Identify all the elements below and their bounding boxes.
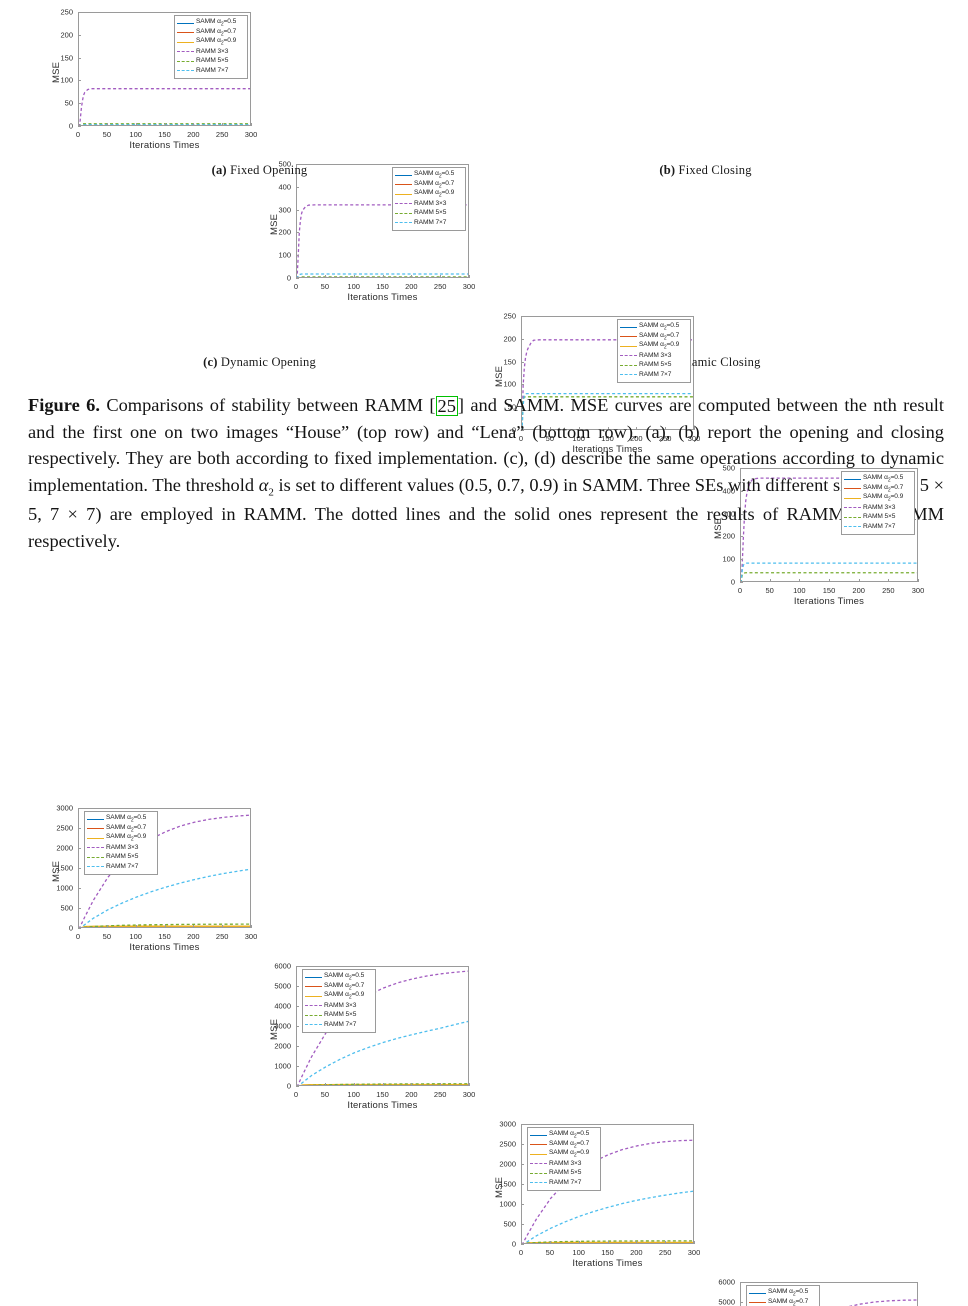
citation-link[interactable]: 25: [436, 396, 458, 416]
legend-item[interactable]: SAMM α2=0.9: [844, 493, 911, 503]
legend-swatch: [87, 815, 104, 823]
legend-swatch: [177, 66, 194, 74]
x-tick-mark: [325, 275, 326, 278]
legend-item[interactable]: SAMM α2=0.7: [620, 332, 687, 342]
x-tick-label: 0: [76, 130, 80, 139]
y-tick-label: 3000: [262, 1022, 291, 1031]
legend-item[interactable]: RAMM 3×3: [87, 843, 154, 853]
legend-label: SAMM α2=0.7: [324, 982, 364, 991]
y-tick-label: 0: [706, 578, 735, 587]
y-tick-mark: [521, 384, 524, 385]
x-tick-label: 0: [294, 282, 298, 291]
panel-d-left: MSE0500100015002000250030000501001502002…: [487, 1116, 700, 1274]
y-tick-mark: [78, 35, 81, 36]
legend-label: SAMM α2=0.9: [863, 493, 903, 502]
caption-label: Figure 6.: [28, 395, 100, 415]
y-tick-label: 5000: [706, 1298, 735, 1306]
legend-item[interactable]: SAMM α2=0.7: [844, 484, 911, 494]
chart-legend[interactable]: SAMM α2=0.5SAMM α2=0.7SAMM α2=0.9RAMM 3×…: [746, 1285, 820, 1306]
x-tick-mark: [296, 275, 297, 278]
legend-label: SAMM α2=0.5: [196, 18, 236, 27]
legend-swatch: [177, 57, 194, 65]
legend-item[interactable]: RAMM 7×7: [87, 862, 154, 872]
legend-label: SAMM α2=0.9: [196, 37, 236, 46]
legend-swatch: [530, 1140, 547, 1148]
chart-legend[interactable]: SAMM α2=0.5SAMM α2=0.7SAMM α2=0.9RAMM 3×…: [527, 1127, 601, 1191]
y-tick-mark: [296, 255, 299, 256]
legend-label: SAMM α2=0.5: [768, 1288, 808, 1297]
x-tick-mark: [694, 1241, 695, 1244]
y-tick-mark: [521, 1244, 524, 1245]
legend-swatch: [305, 1020, 322, 1028]
x-tick-label: 200: [405, 282, 418, 291]
y-tick-label: 3000: [487, 1120, 516, 1129]
subcaption-b: (b) Fixed Closing: [487, 163, 924, 178]
legend-swatch: [305, 973, 322, 981]
y-tick-label: 1000: [44, 884, 73, 893]
figure-panels: MSE050100150200250050100150200250300Iter…: [0, 0, 968, 382]
x-tick-label: 50: [103, 130, 111, 139]
legend-swatch: [395, 199, 412, 207]
x-tick-label: 300: [463, 1090, 476, 1099]
legend-label: RAMM 5×5: [106, 853, 138, 860]
x-tick-mark: [636, 1241, 637, 1244]
y-tick-mark: [296, 1086, 299, 1087]
legend-label: RAMM 3×3: [549, 1160, 581, 1167]
y-tick-label: 500: [487, 1220, 516, 1229]
legend-label: SAMM α2=0.5: [324, 972, 364, 981]
x-axis-label: Iterations Times: [521, 1258, 694, 1269]
legend-swatch: [177, 47, 194, 55]
x-tick-mark: [550, 1241, 551, 1244]
x-tick-label: 200: [630, 1248, 643, 1257]
x-tick-label: 150: [158, 130, 171, 139]
legend-label: SAMM α2=0.5: [863, 474, 903, 483]
y-tick-label: 1000: [262, 1062, 291, 1071]
x-tick-mark: [521, 1241, 522, 1244]
y-tick-label: 1000: [487, 1200, 516, 1209]
chart-legend[interactable]: SAMM α2=0.5SAMM α2=0.7SAMM α2=0.9RAMM 3×…: [841, 471, 915, 535]
legend-swatch: [177, 38, 194, 46]
x-tick-mark: [440, 1083, 441, 1086]
x-tick-label: 100: [347, 1090, 360, 1099]
x-axis-label: Iterations Times: [78, 942, 251, 953]
y-tick-label: 6000: [262, 962, 291, 971]
legend-label: SAMM α2=0.9: [414, 189, 454, 198]
x-tick-label: 250: [216, 130, 229, 139]
chart-legend[interactable]: SAMM α2=0.5SAMM α2=0.7SAMM α2=0.9RAMM 3×…: [617, 319, 691, 383]
legend-swatch: [620, 351, 637, 359]
legend-item[interactable]: RAMM 7×7: [620, 370, 687, 380]
legend-label: SAMM α2=0.7: [196, 28, 236, 37]
x-tick-label: 250: [882, 586, 895, 595]
x-tick-mark: [888, 579, 889, 582]
x-tick-label: 50: [546, 1248, 554, 1257]
x-tick-mark: [107, 123, 108, 126]
x-tick-mark: [136, 123, 137, 126]
y-tick-label: 50: [44, 99, 73, 108]
legend-swatch: [395, 190, 412, 198]
legend-label: RAMM 7×7: [639, 371, 671, 378]
x-tick-mark: [222, 123, 223, 126]
legend-item[interactable]: SAMM α2=0.9: [620, 341, 687, 351]
y-tick-mark: [296, 1046, 299, 1047]
legend-item[interactable]: SAMM α2=0.5: [395, 170, 462, 180]
legend-item[interactable]: RAMM 5×5: [305, 1010, 372, 1020]
y-tick-mark: [296, 232, 299, 233]
x-tick-mark: [740, 579, 741, 582]
legend-label: SAMM α2=0.7: [768, 1298, 808, 1306]
y-tick-label: 2500: [487, 1140, 516, 1149]
y-tick-label: 200: [44, 30, 73, 39]
legend-swatch: [305, 1011, 322, 1019]
y-tick-label: 0: [262, 274, 291, 283]
y-tick-label: 0: [487, 1240, 516, 1249]
panel-a-left: MSE050100150200250050100150200250300Iter…: [44, 4, 257, 156]
legend-label: SAMM α2=0.5: [414, 170, 454, 179]
legend-label: RAMM 3×3: [639, 352, 671, 359]
legend-item[interactable]: RAMM 7×7: [530, 1178, 597, 1188]
subcaption-a-text: Fixed Opening: [230, 163, 307, 177]
y-tick-mark: [521, 316, 524, 317]
legend-label: SAMM α2=0.7: [549, 1140, 589, 1149]
x-tick-mark: [107, 925, 108, 928]
x-tick-mark: [770, 579, 771, 582]
y-tick-mark: [521, 1164, 524, 1165]
legend-label: SAMM α2=0.5: [549, 1130, 589, 1139]
x-tick-mark: [859, 579, 860, 582]
y-tick-label: 100: [487, 380, 516, 389]
x-tick-mark: [918, 579, 919, 582]
x-axis-label: Iterations Times: [740, 596, 918, 607]
legend-item[interactable]: SAMM α2=0.9: [177, 37, 244, 47]
y-tick-label: 100: [706, 555, 735, 564]
legend-label: RAMM 5×5: [324, 1011, 356, 1018]
legend-swatch: [177, 28, 194, 36]
caption-text-part1: Comparisons of stability between RAMM [: [106, 395, 435, 415]
legend-swatch: [87, 824, 104, 832]
legend-item[interactable]: SAMM α2=0.5: [177, 18, 244, 28]
legend-swatch: [305, 1001, 322, 1009]
x-tick-label: 100: [572, 1248, 585, 1257]
y-tick-mark: [78, 80, 81, 81]
legend-item[interactable]: RAMM 5×5: [620, 360, 687, 370]
y-tick-mark: [296, 187, 299, 188]
legend-item[interactable]: RAMM 5×5: [844, 512, 911, 522]
chart-legend[interactable]: SAMM α2=0.5SAMM α2=0.7SAMM α2=0.9RAMM 3×…: [302, 969, 376, 1033]
legend-item[interactable]: SAMM α2=0.7: [530, 1140, 597, 1150]
x-tick-mark: [136, 925, 137, 928]
series-line-dashed: [522, 1191, 694, 1244]
legend-label: SAMM α2=0.7: [863, 484, 903, 493]
legend-swatch: [177, 19, 194, 27]
legend-item[interactable]: SAMM α2=0.7: [177, 28, 244, 38]
legend-label: RAMM 5×5: [414, 209, 446, 216]
legend-item[interactable]: RAMM 3×3: [620, 351, 687, 361]
legend-label: RAMM 5×5: [549, 1169, 581, 1176]
x-tick-mark: [799, 579, 800, 582]
legend-item[interactable]: SAMM α2=0.7: [305, 982, 372, 992]
x-tick-mark: [251, 123, 252, 126]
subcaption-c: (c) Dynamic Opening: [44, 355, 475, 370]
legend-label: RAMM 5×5: [639, 361, 671, 368]
legend-item[interactable]: RAMM 5×5: [87, 852, 154, 862]
subcaption-a-tag: (a): [212, 163, 227, 177]
x-tick-label: 300: [463, 282, 476, 291]
legend-item[interactable]: SAMM α2=0.5: [844, 474, 911, 484]
legend-item[interactable]: RAMM 7×7: [395, 218, 462, 228]
legend-label: SAMM α2=0.9: [639, 341, 679, 350]
legend-label: RAMM 5×5: [863, 513, 895, 520]
panel-a-right: MSE0100200300400500050100150200250300Ite…: [262, 156, 475, 308]
x-tick-mark: [78, 123, 79, 126]
x-tick-label: 150: [376, 1090, 389, 1099]
y-tick-label: 2500: [44, 824, 73, 833]
x-tick-label: 150: [823, 586, 836, 595]
x-axis-label: Iterations Times: [296, 292, 469, 303]
legend-label: SAMM α2=0.5: [639, 322, 679, 331]
legend-label: RAMM 3×3: [863, 504, 895, 511]
legend-label: SAMM α2=0.5: [106, 814, 146, 823]
legend-swatch: [749, 1298, 766, 1306]
y-tick-mark: [521, 1224, 524, 1225]
x-tick-label: 0: [519, 1248, 523, 1257]
legend-item[interactable]: RAMM 7×7: [177, 66, 244, 76]
legend-item[interactable]: SAMM α2=0.5: [530, 1130, 597, 1140]
x-tick-mark: [469, 1083, 470, 1086]
subcaption-b-text: Fixed Closing: [679, 163, 752, 177]
y-tick-mark: [740, 1302, 743, 1303]
x-tick-label: 50: [765, 586, 773, 595]
legend-swatch: [620, 332, 637, 340]
legend-item[interactable]: RAMM 5×5: [530, 1168, 597, 1178]
legend-label: RAMM 7×7: [414, 219, 446, 226]
x-tick-mark: [165, 925, 166, 928]
x-tick-mark: [665, 1241, 666, 1244]
x-tick-mark: [829, 579, 830, 582]
legend-label: RAMM 7×7: [196, 67, 228, 74]
y-tick-label: 400: [262, 182, 291, 191]
legend-swatch: [620, 370, 637, 378]
panel-c-left: MSE0500100015002000250030000501001502002…: [44, 800, 257, 958]
legend-swatch: [395, 209, 412, 217]
y-tick-label: 200: [262, 228, 291, 237]
y-tick-label: 6000: [706, 1278, 735, 1287]
x-tick-label: 250: [216, 932, 229, 941]
legend-label: RAMM 7×7: [106, 863, 138, 870]
panel-c-right: MSE0100020003000400050006000050100150200…: [262, 958, 475, 1116]
legend-swatch: [87, 862, 104, 870]
y-tick-mark: [521, 1204, 524, 1205]
x-tick-mark: [383, 1083, 384, 1086]
x-tick-label: 50: [321, 282, 329, 291]
y-tick-mark: [521, 1124, 524, 1125]
y-tick-mark: [78, 828, 81, 829]
legend-item[interactable]: SAMM α2=0.9: [87, 833, 154, 843]
y-tick-label: 2000: [262, 1042, 291, 1051]
legend-label: RAMM 7×7: [549, 1179, 581, 1186]
x-tick-label: 0: [738, 586, 742, 595]
y-tick-mark: [78, 12, 81, 13]
y-tick-mark: [296, 1006, 299, 1007]
legend-swatch: [620, 342, 637, 350]
y-tick-mark: [78, 808, 81, 809]
x-tick-mark: [579, 1241, 580, 1244]
legend-label: RAMM 3×3: [196, 48, 228, 55]
x-tick-label: 150: [376, 282, 389, 291]
legend-swatch: [305, 992, 322, 1000]
legend-swatch: [87, 843, 104, 851]
y-tick-mark: [521, 339, 524, 340]
x-tick-label: 0: [76, 932, 80, 941]
x-tick-label: 100: [347, 282, 360, 291]
x-tick-mark: [440, 275, 441, 278]
legend-swatch: [844, 503, 861, 511]
y-tick-mark: [78, 126, 81, 127]
chart-legend[interactable]: SAMM α2=0.5SAMM α2=0.7SAMM α2=0.9RAMM 3×…: [174, 15, 248, 79]
y-tick-mark: [78, 868, 81, 869]
x-tick-label: 150: [158, 932, 171, 941]
chart-legend[interactable]: SAMM α2=0.5SAMM α2=0.7SAMM α2=0.9RAMM 3×…: [392, 167, 466, 231]
legend-item[interactable]: SAMM α2=0.5: [620, 322, 687, 332]
x-tick-label: 250: [434, 1090, 447, 1099]
legend-item[interactable]: RAMM 5×5: [395, 208, 462, 218]
legend-swatch: [87, 853, 104, 861]
y-tick-mark: [740, 582, 743, 583]
x-tick-mark: [296, 1083, 297, 1086]
y-tick-mark: [521, 1184, 524, 1185]
legend-item[interactable]: RAMM 7×7: [844, 522, 911, 532]
x-tick-mark: [78, 925, 79, 928]
alpha-glyph: α: [259, 475, 269, 495]
x-tick-label: 100: [793, 586, 806, 595]
x-tick-label: 100: [129, 932, 142, 941]
y-tick-mark: [296, 966, 299, 967]
x-tick-mark: [251, 925, 252, 928]
x-axis-label: Iterations Times: [296, 1100, 469, 1111]
x-tick-label: 300: [245, 130, 258, 139]
legend-label: RAMM 3×3: [324, 1002, 356, 1009]
x-tick-label: 300: [245, 932, 258, 941]
y-tick-mark: [296, 278, 299, 279]
y-tick-mark: [78, 103, 81, 104]
y-tick-label: 2000: [487, 1160, 516, 1169]
y-tick-label: 250: [44, 8, 73, 17]
x-tick-label: 50: [103, 932, 111, 941]
legend-swatch: [749, 1289, 766, 1297]
legend-swatch: [844, 513, 861, 521]
legend-label: RAMM 7×7: [863, 523, 895, 530]
legend-item[interactable]: RAMM 3×3: [305, 1001, 372, 1011]
y-tick-mark: [296, 986, 299, 987]
chart-legend[interactable]: SAMM α2=0.5SAMM α2=0.7SAMM α2=0.9RAMM 3×…: [84, 811, 158, 875]
subcaption-b-tag: (b): [659, 163, 675, 177]
y-tick-label: 1500: [487, 1180, 516, 1189]
legend-item[interactable]: RAMM 3×3: [177, 47, 244, 57]
legend-swatch: [844, 522, 861, 530]
y-tick-label: 1500: [44, 864, 73, 873]
x-tick-mark: [411, 1083, 412, 1086]
x-axis-label: Iterations Times: [78, 140, 251, 151]
legend-item[interactable]: SAMM α2=0.5: [305, 972, 372, 982]
y-tick-mark: [78, 848, 81, 849]
x-tick-mark: [165, 123, 166, 126]
legend-swatch: [844, 484, 861, 492]
x-tick-label: 200: [187, 932, 200, 941]
y-tick-label: 100: [262, 251, 291, 260]
x-tick-label: 250: [659, 1248, 672, 1257]
y-tick-mark: [296, 1066, 299, 1067]
y-tick-label: 250: [487, 312, 516, 321]
subcaption-c-text: Dynamic Opening: [221, 355, 316, 369]
legend-item[interactable]: RAMM 3×3: [844, 503, 911, 513]
legend-item[interactable]: SAMM α2=0.5: [749, 1288, 816, 1298]
legend-item[interactable]: RAMM 5×5: [177, 56, 244, 66]
legend-label: RAMM 7×7: [324, 1021, 356, 1028]
legend-swatch: [395, 171, 412, 179]
subcaption-c-tag: (c): [203, 355, 217, 369]
panel-d-right: MSE0100020003000400050006000050100150200…: [706, 1274, 924, 1306]
legend-swatch: [305, 982, 322, 990]
x-tick-label: 250: [434, 282, 447, 291]
x-tick-label: 100: [129, 130, 142, 139]
legend-swatch: [620, 361, 637, 369]
x-tick-label: 0: [294, 1090, 298, 1099]
series-line-dashed: [79, 869, 251, 928]
y-tick-label: 0: [262, 1082, 291, 1091]
y-tick-mark: [296, 210, 299, 211]
x-tick-mark: [222, 925, 223, 928]
alpha-symbol: α2: [259, 475, 274, 495]
x-tick-mark: [469, 275, 470, 278]
legend-item[interactable]: SAMM α2=0.9: [305, 991, 372, 1001]
x-tick-label: 50: [321, 1090, 329, 1099]
legend-item[interactable]: RAMM 3×3: [395, 199, 462, 209]
legend-swatch: [530, 1178, 547, 1186]
legend-swatch: [530, 1169, 547, 1177]
y-tick-mark: [740, 559, 743, 560]
legend-swatch: [530, 1159, 547, 1167]
legend-item[interactable]: SAMM α2=0.7: [87, 824, 154, 834]
legend-swatch: [844, 494, 861, 502]
legend-label: SAMM α2=0.7: [639, 332, 679, 341]
y-tick-label: 0: [44, 122, 73, 131]
legend-item[interactable]: SAMM α2=0.7: [749, 1298, 816, 1306]
y-tick-label: 4000: [262, 1002, 291, 1011]
figure-caption: Figure 6. Comparisons of stability betwe…: [28, 392, 944, 554]
y-tick-mark: [740, 1282, 743, 1283]
x-tick-label: 300: [912, 586, 925, 595]
y-tick-mark: [296, 1026, 299, 1027]
legend-swatch: [395, 218, 412, 226]
legend-label: SAMM α2=0.9: [549, 1149, 589, 1158]
x-tick-mark: [193, 925, 194, 928]
legend-item[interactable]: RAMM 3×3: [530, 1159, 597, 1169]
legend-item[interactable]: SAMM α2=0.5: [87, 814, 154, 824]
x-tick-mark: [383, 275, 384, 278]
x-tick-label: 200: [852, 586, 865, 595]
legend-label: RAMM 5×5: [196, 57, 228, 64]
legend-item[interactable]: RAMM 7×7: [305, 1020, 372, 1030]
legend-item[interactable]: SAMM α2=0.9: [530, 1149, 597, 1159]
legend-swatch: [620, 323, 637, 331]
legend-item[interactable]: SAMM α2=0.7: [395, 180, 462, 190]
legend-item[interactable]: SAMM α2=0.9: [395, 189, 462, 199]
legend-swatch: [530, 1131, 547, 1139]
x-tick-label: 200: [405, 1090, 418, 1099]
y-tick-label: 300: [262, 205, 291, 214]
y-tick-label: 3000: [44, 804, 73, 813]
